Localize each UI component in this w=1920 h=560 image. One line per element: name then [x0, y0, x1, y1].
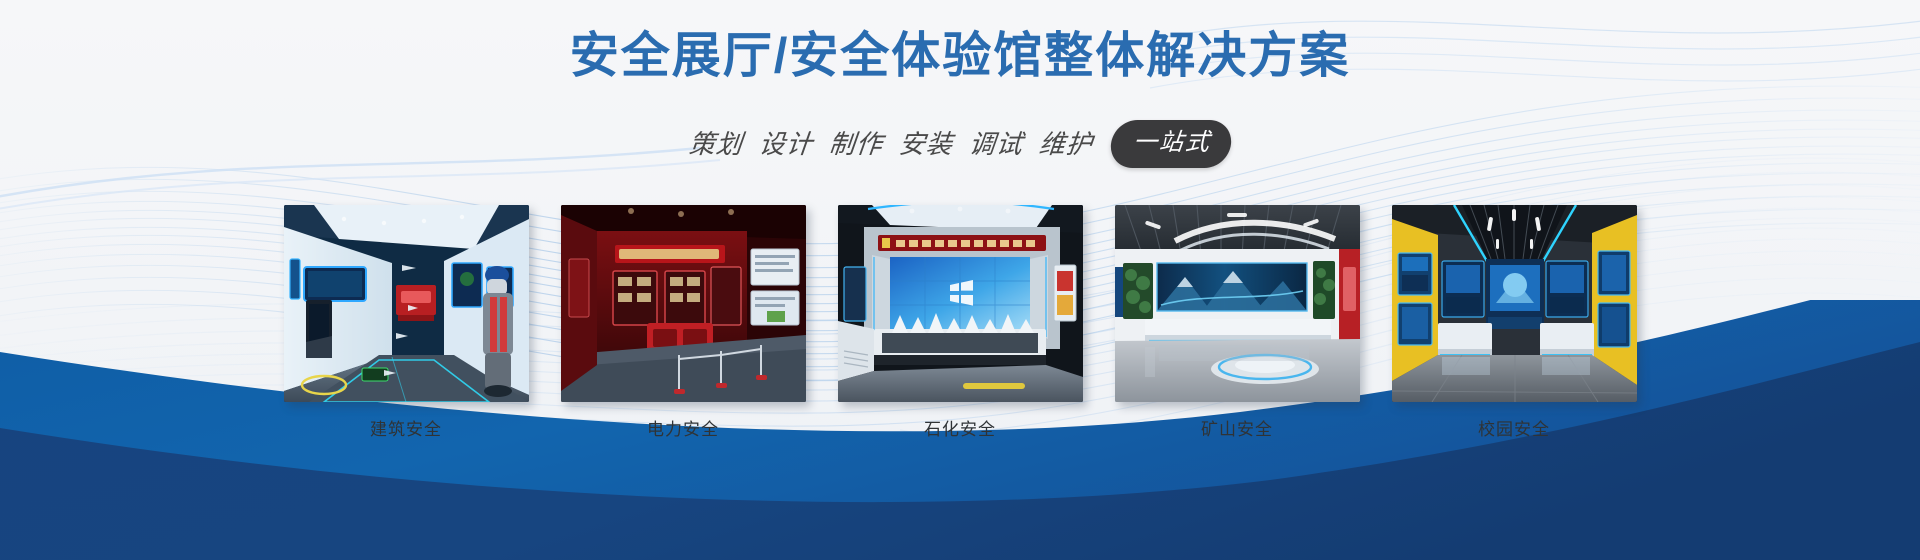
thumbnail-power-safety [561, 205, 806, 402]
card-caption: 校园安全 [1478, 418, 1550, 442]
safety-exhibition-banner: 安全展厅/安全体验馆整体解决方案 策划设计制作安装调试维护 一站式 [0, 0, 1920, 560]
service-step-1: 设计 [757, 129, 814, 159]
service-steps-row: 策划设计制作安装调试维护 一站式 [0, 120, 1920, 168]
solution-card[interactable]: 建筑安全 [284, 205, 529, 442]
page-title: 安全展厅/安全体验馆整体解决方案 [0, 25, 1920, 87]
thumbnail-campus-safety [1392, 205, 1637, 402]
service-step-4: 调试 [967, 129, 1024, 159]
card-caption: 电力安全 [647, 418, 719, 442]
service-step-3: 安装 [897, 129, 954, 159]
service-steps-text: 策划设计制作安装调试维护 [687, 125, 1095, 163]
service-step-0: 策划 [687, 129, 744, 159]
thumbnail-mining-safety [1115, 205, 1360, 402]
thumbnail-petrochemical-safety [838, 205, 1083, 402]
solution-card[interactable]: 校园安全 [1392, 205, 1637, 442]
solution-card[interactable]: 矿山安全 [1115, 205, 1360, 442]
one-stop-badge: 一站式 [1109, 120, 1234, 168]
solution-card[interactable]: 石化安全 [838, 205, 1083, 442]
solution-card[interactable]: 电力安全 [561, 205, 806, 442]
card-caption: 建筑安全 [370, 418, 442, 442]
thumbnail-construction-safety [284, 205, 529, 402]
service-step-5: 维护 [1037, 129, 1094, 159]
solution-card-list: 建筑安全 [0, 205, 1920, 442]
card-caption: 矿山安全 [1201, 418, 1273, 442]
card-caption: 石化安全 [924, 418, 996, 442]
service-step-2: 制作 [827, 129, 884, 159]
